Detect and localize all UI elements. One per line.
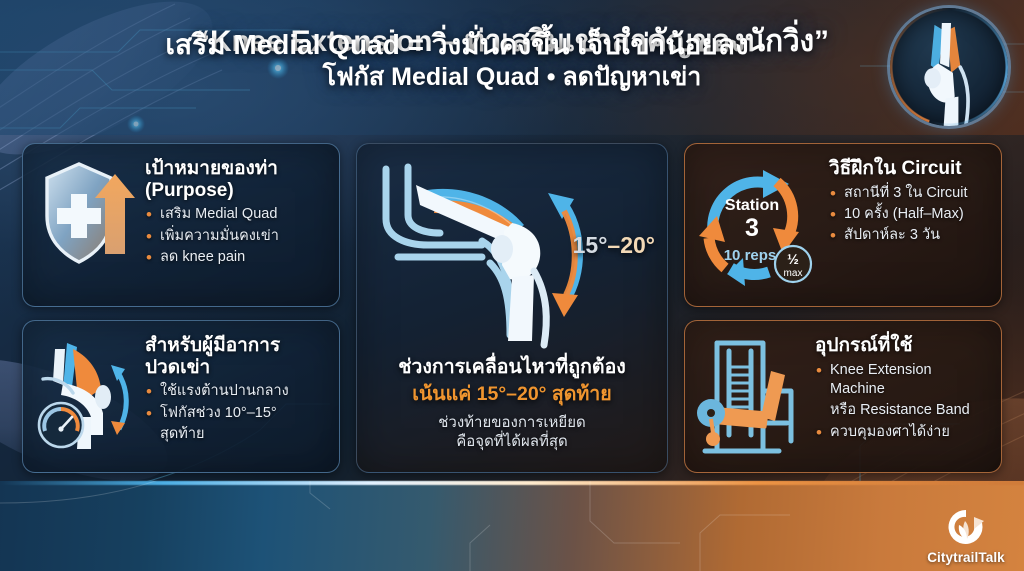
shield-plus-arrow-icon <box>33 154 137 272</box>
list-item: 10 ครั้ง (Half–Max) <box>829 205 989 224</box>
panel-grid: เป้าหมายของท่า (Purpose) เสริม Medial Qu… <box>22 143 1002 473</box>
rom-heading: ช่วงการเคลื่อนไหวที่ถูกต้อง <box>365 356 659 379</box>
panel-knee-pain-title-line1: สำหรับผู้มีอาการ <box>145 335 280 356</box>
panel-purpose-title-line1: เป้าหมายของท่า <box>145 158 278 179</box>
svg-text:max: max <box>784 268 803 279</box>
circular-arrows-station-icon: Station 3 10 reps ½ max <box>695 154 821 288</box>
rom-degree-b: –20° <box>607 232 655 258</box>
panel-equipment-bullets: Knee Extension Machine หรือ Resistance B… <box>815 361 989 442</box>
panel-purpose: เป้าหมายของท่า (Purpose) เสริม Medial Qu… <box>22 143 340 307</box>
list-item: สัปดาห์ละ 3 วัน <box>829 226 989 245</box>
logo-mark <box>944 507 988 549</box>
list-item: เพิ่มความมั่นคงเข่า <box>145 227 327 246</box>
station-label: Station <box>725 197 779 214</box>
reps-label: 10 reps <box>724 247 777 264</box>
rom-note-line1: ช่วงท้ายของการเหยียด <box>438 414 586 431</box>
infographic-root: “Knee Extension – ท่าเสริมเข่าสำคัญของนั… <box>0 0 1024 571</box>
footer-circuit-lines <box>0 481 1024 571</box>
panel-purpose-title-line2: (Purpose) <box>145 180 234 201</box>
list-item: เสริม Medial Quad <box>145 205 327 224</box>
rom-degree-label: 15°–20° <box>573 232 655 259</box>
list-item: ใช้แรงต้านปานกลาง <box>145 382 327 401</box>
footer-banner <box>0 481 1024 571</box>
footer-message: เสริม Medial Quad = วิ่งมั่นคงขึ้น เจ็บเ… <box>0 0 1024 90</box>
knee-flexion-arrow-icon: 15°–20° <box>357 144 667 356</box>
half-max-badge: ½ max <box>775 246 811 282</box>
list-item: สถานีที่ 3 ใน Circuit <box>829 184 989 203</box>
panel-knee-pain-bullets: ใช้แรงต้านปานกลาง โฟกัสช่วง 10°–15° สุดท… <box>145 382 327 444</box>
panel-circuit-title: วิธีฝึกใน Circuit <box>829 158 989 180</box>
logo-text: CitytrailTalk <box>927 550 1005 565</box>
panel-circuit-method: Station 3 10 reps ½ max วิธีฝึกใน Circui… <box>684 143 1002 307</box>
list-item: Knee Extension Machine <box>815 361 989 400</box>
panel-knee-pain-title: สำหรับผู้มีอาการ ปวดเข่า <box>145 335 327 378</box>
rom-text-block: ช่วงการเคลื่อนไหวที่ถูกต้อง เน้นแค่ 15°–… <box>357 356 667 452</box>
list-item: ลด knee pain <box>145 248 327 267</box>
panel-circuit-bullets: สถานีที่ 3 ใน Circuit 10 ครั้ง (Half–Max… <box>829 184 989 246</box>
list-item: โฟกัสช่วง 10°–15° <box>145 404 327 423</box>
list-item-continuation: สุดท้าย <box>145 425 327 444</box>
knee-gauge-icon <box>33 331 137 455</box>
panel-equipment: อุปกรณ์ที่ใช้ Knee Extension Machine หรื… <box>684 320 1002 473</box>
leg-extension-machine-icon <box>695 331 807 457</box>
rom-note-line2: คือจุดที่ได้ผลที่สุด <box>456 433 568 450</box>
panel-knee-pain: สำหรับผู้มีอาการ ปวดเข่า ใช้แรงต้านปานกล… <box>22 320 340 473</box>
citytrailtalk-leaf-logo[interactable]: CitytrailTalk <box>920 507 1012 565</box>
rom-highlight: เน้นแค่ 15°–20° สุดท้าย <box>365 382 659 406</box>
panel-range-of-motion: 15°–20° ช่วงการเคลื่อนไหวที่ถูกต้อง เน้น… <box>356 143 668 473</box>
panel-equipment-title: อุปกรณ์ที่ใช้ <box>815 335 989 357</box>
panel-purpose-bullets: เสริม Medial Quad เพิ่มความมั่นคงเข่า ลด… <box>145 205 327 267</box>
rom-degree-a: 15° <box>573 232 608 258</box>
list-item-continuation: หรือ Resistance Band <box>815 401 989 420</box>
panel-knee-pain-title-line2: ปวดเข่า <box>145 357 210 378</box>
station-number: 3 <box>745 214 759 242</box>
rom-note: ช่วงท้ายของการเหยียด คือจุดที่ได้ผลที่สุ… <box>365 413 659 452</box>
panel-purpose-title: เป้าหมายของท่า (Purpose) <box>145 158 327 201</box>
svg-text:½: ½ <box>787 251 799 267</box>
list-item: ควบคุมองศาได้ง่าย <box>815 423 989 442</box>
